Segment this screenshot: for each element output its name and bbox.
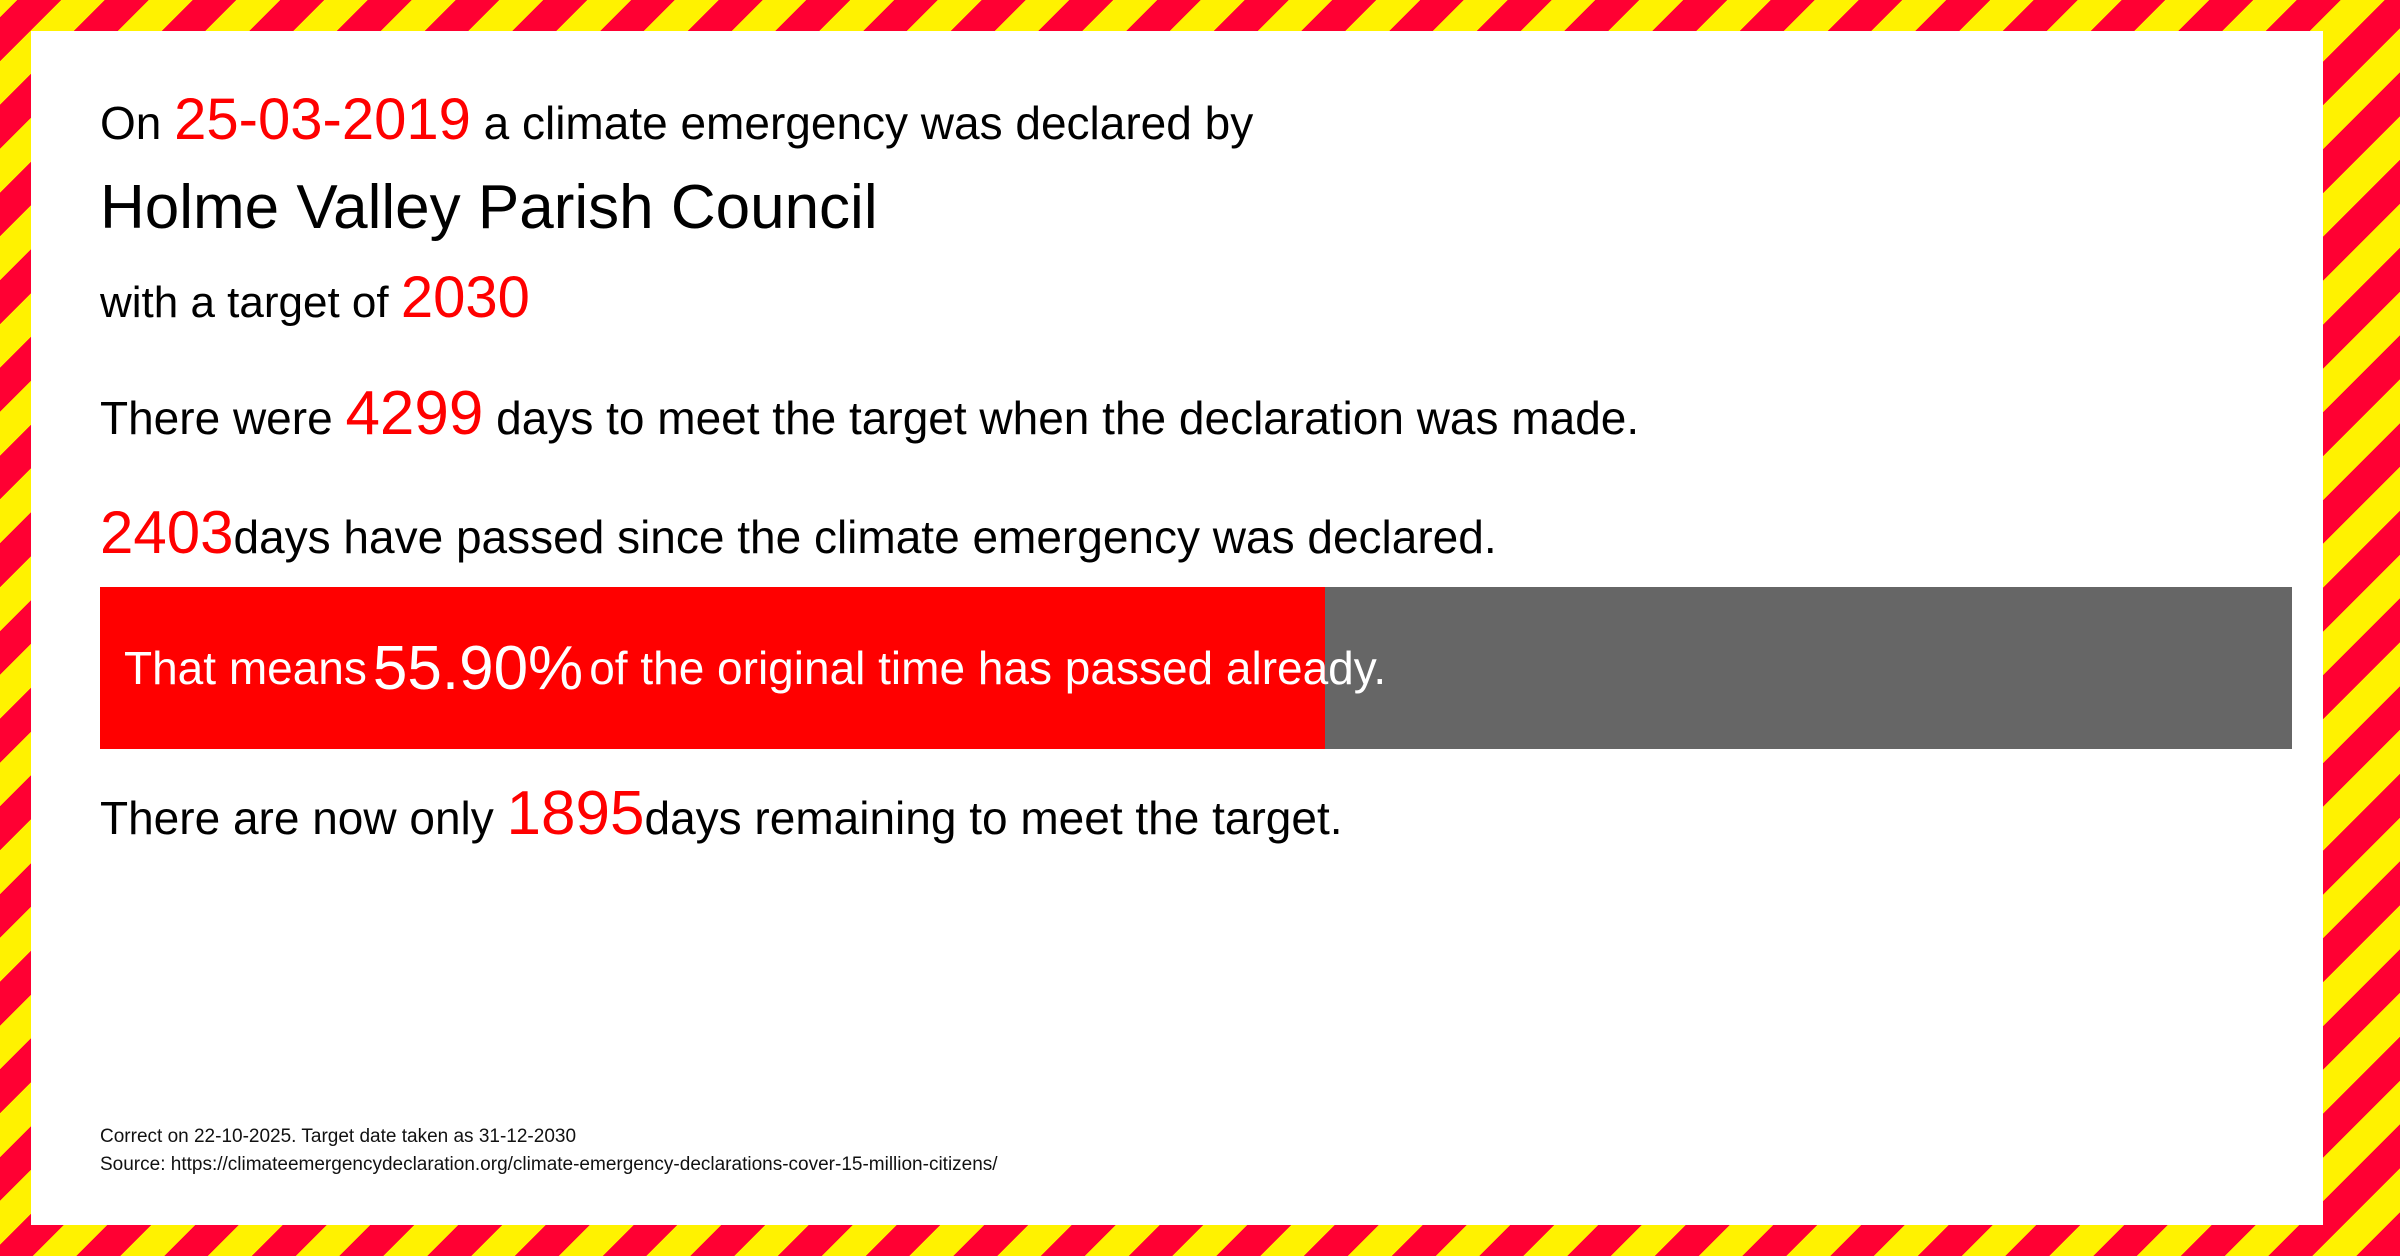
- days-to-target-suffix-text: days to meet the target when the declara…: [483, 392, 1639, 444]
- days-to-target-value: 4299: [345, 379, 483, 448]
- target-line: with a target of 2030: [100, 269, 2323, 327]
- footnote-correct-on: Correct on 22-10-2025. Target date taken…: [100, 1123, 998, 1151]
- days-passed-suffix-text: days have passed since the climate emerg…: [233, 511, 1496, 563]
- days-to-target-prefix-text: There were: [100, 392, 345, 444]
- info-card: On 25-03-2019 a climate emergency was de…: [31, 31, 2323, 1225]
- declaration-suffix-text: a climate emergency was declared by: [471, 97, 1253, 149]
- declaration-date: 25-03-2019: [174, 87, 471, 152]
- days-passed-value: 2403: [100, 499, 233, 566]
- target-year: 2030: [401, 265, 530, 330]
- progress-percent-value: 55.90%: [367, 633, 589, 704]
- target-prefix-text: with a target of: [100, 278, 401, 327]
- footnote: Correct on 22-10-2025. Target date taken…: [100, 1123, 998, 1178]
- progress-bar-label: That means 55.90%of the original time ha…: [124, 587, 1386, 749]
- days-passed-line: 2403days have passed since the climate e…: [100, 503, 2323, 563]
- days-remaining-value: 1895: [507, 779, 645, 848]
- declaration-prefix-text: On: [100, 97, 174, 149]
- days-remaining-suffix-text: days remaining to meet the target.: [644, 792, 1342, 844]
- days-remaining-prefix-text: There are now only: [100, 792, 507, 844]
- footnote-source: Source: https://climateemergencydeclarat…: [100, 1151, 998, 1179]
- progress-label-suffix-text: of the original time has passed already.: [589, 641, 1386, 695]
- days-to-target-line: There were 4299 days to meet the target …: [100, 383, 2323, 445]
- progress-label-prefix-text: That means: [124, 641, 367, 695]
- card-content: On 25-03-2019 a climate emergency was de…: [100, 83, 2323, 1225]
- time-elapsed-progress-bar: That means 55.90%of the original time ha…: [100, 587, 2292, 749]
- declaration-headline: On 25-03-2019 a climate emergency was de…: [100, 83, 2323, 149]
- days-remaining-line: There are now only 1895days remaining to…: [100, 783, 2323, 845]
- hazard-stripe-frame: On 25-03-2019 a climate emergency was de…: [0, 0, 2400, 1256]
- council-name: Holme Valley Parish Council: [100, 177, 2323, 239]
